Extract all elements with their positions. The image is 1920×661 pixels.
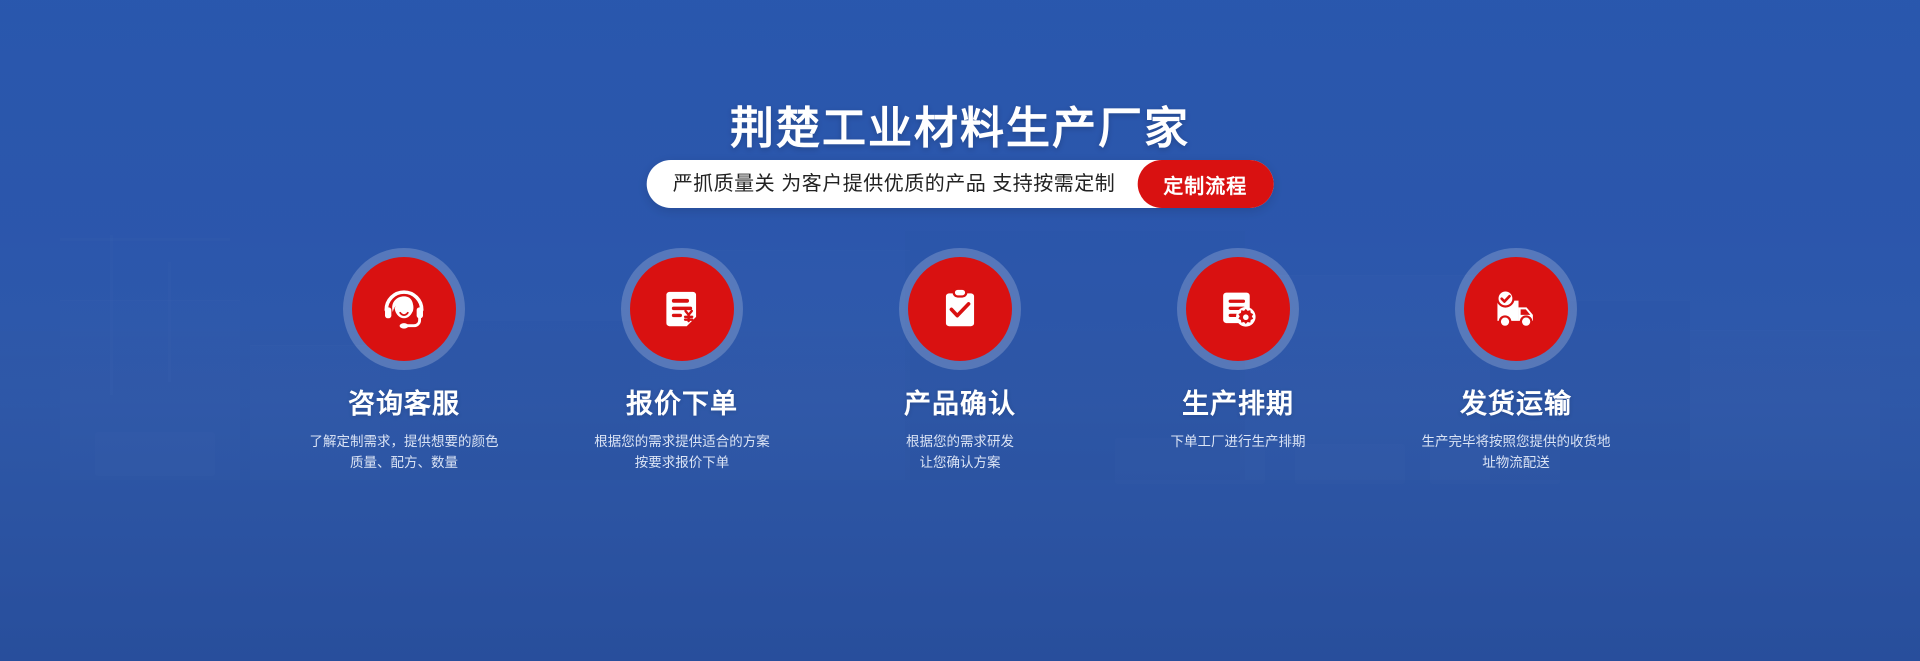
slogan-pill: 严抓质量关 为客户提供优质的产品 支持按需定制 定制流程 [647,160,1274,208]
invoice-yuan-icon [657,284,707,334]
step-description: 了解定制需求，提供想要的颜色 质量、配方、数量 [310,432,499,474]
step-icon-disc [1186,257,1290,361]
delivery-truck-check-icon [1489,282,1543,336]
process-steps: 咨询客服 了解定制需求，提供想要的颜色 质量、配方、数量 [0,248,1920,474]
step-item-quote[interactable]: 报价下单 根据您的需求提供适合的方案 按要求报价下单 [577,248,787,474]
page-title: 荆楚工业材料生产厂家 [0,92,1920,156]
step-title: 产品确认 [904,390,1016,420]
headset-support-icon [377,282,431,336]
step-icon-disc [1464,257,1568,361]
step-title: 生产排期 [1182,390,1294,420]
slogan-text: 严抓质量关 为客户提供优质的产品 支持按需定制 [673,174,1138,194]
step-title: 发货运输 [1460,390,1572,420]
step-icon-ring [1455,248,1577,370]
step-icon-disc [630,257,734,361]
step-description-line: 下单工厂进行生产排期 [1171,432,1306,453]
step-description-line: 根据您的需求提供适合的方案 [594,432,770,453]
step-icon-ring [621,248,743,370]
step-description: 生产完毕将按照您提供的收货地 址物流配送 [1422,432,1611,474]
step-description-line: 让您确认方案 [906,453,1014,474]
step-description: 下单工厂进行生产排期 [1171,432,1306,453]
clipboard-check-icon [935,284,985,334]
step-item-consult[interactable]: 咨询客服 了解定制需求，提供想要的颜色 质量、配方、数量 [299,248,509,474]
promo-banner: 荆楚工业材料生产厂家 严抓质量关 为客户提供优质的产品 支持按需定制 定制流程 [0,0,1920,661]
step-description: 根据您的需求研发 让您确认方案 [906,432,1014,474]
step-description: 根据您的需求提供适合的方案 按要求报价下单 [594,432,770,474]
step-description-line: 址物流配送 [1422,453,1611,474]
step-item-schedule[interactable]: 生产排期 下单工厂进行生产排期 [1133,248,1343,474]
step-description-line: 了解定制需求，提供想要的颜色 [310,432,499,453]
step-description-line: 根据您的需求研发 [906,432,1014,453]
step-description-line: 质量、配方、数量 [310,453,499,474]
step-icon-disc [908,257,1012,361]
custom-process-button[interactable]: 定制流程 [1137,160,1273,208]
step-item-shipping[interactable]: 发货运输 生产完毕将按照您提供的收货地 址物流配送 [1411,248,1621,474]
step-description-line: 按要求报价下单 [594,453,770,474]
step-icon-ring [899,248,1021,370]
document-gear-icon [1213,284,1263,334]
step-title: 咨询客服 [348,390,460,420]
step-title: 报价下单 [626,390,738,420]
step-item-confirm[interactable]: 产品确认 根据您的需求研发 让您确认方案 [855,248,1065,474]
step-icon-disc [352,257,456,361]
step-description-line: 生产完毕将按照您提供的收货地 [1422,432,1611,453]
step-icon-ring [343,248,465,370]
step-icon-ring [1177,248,1299,370]
